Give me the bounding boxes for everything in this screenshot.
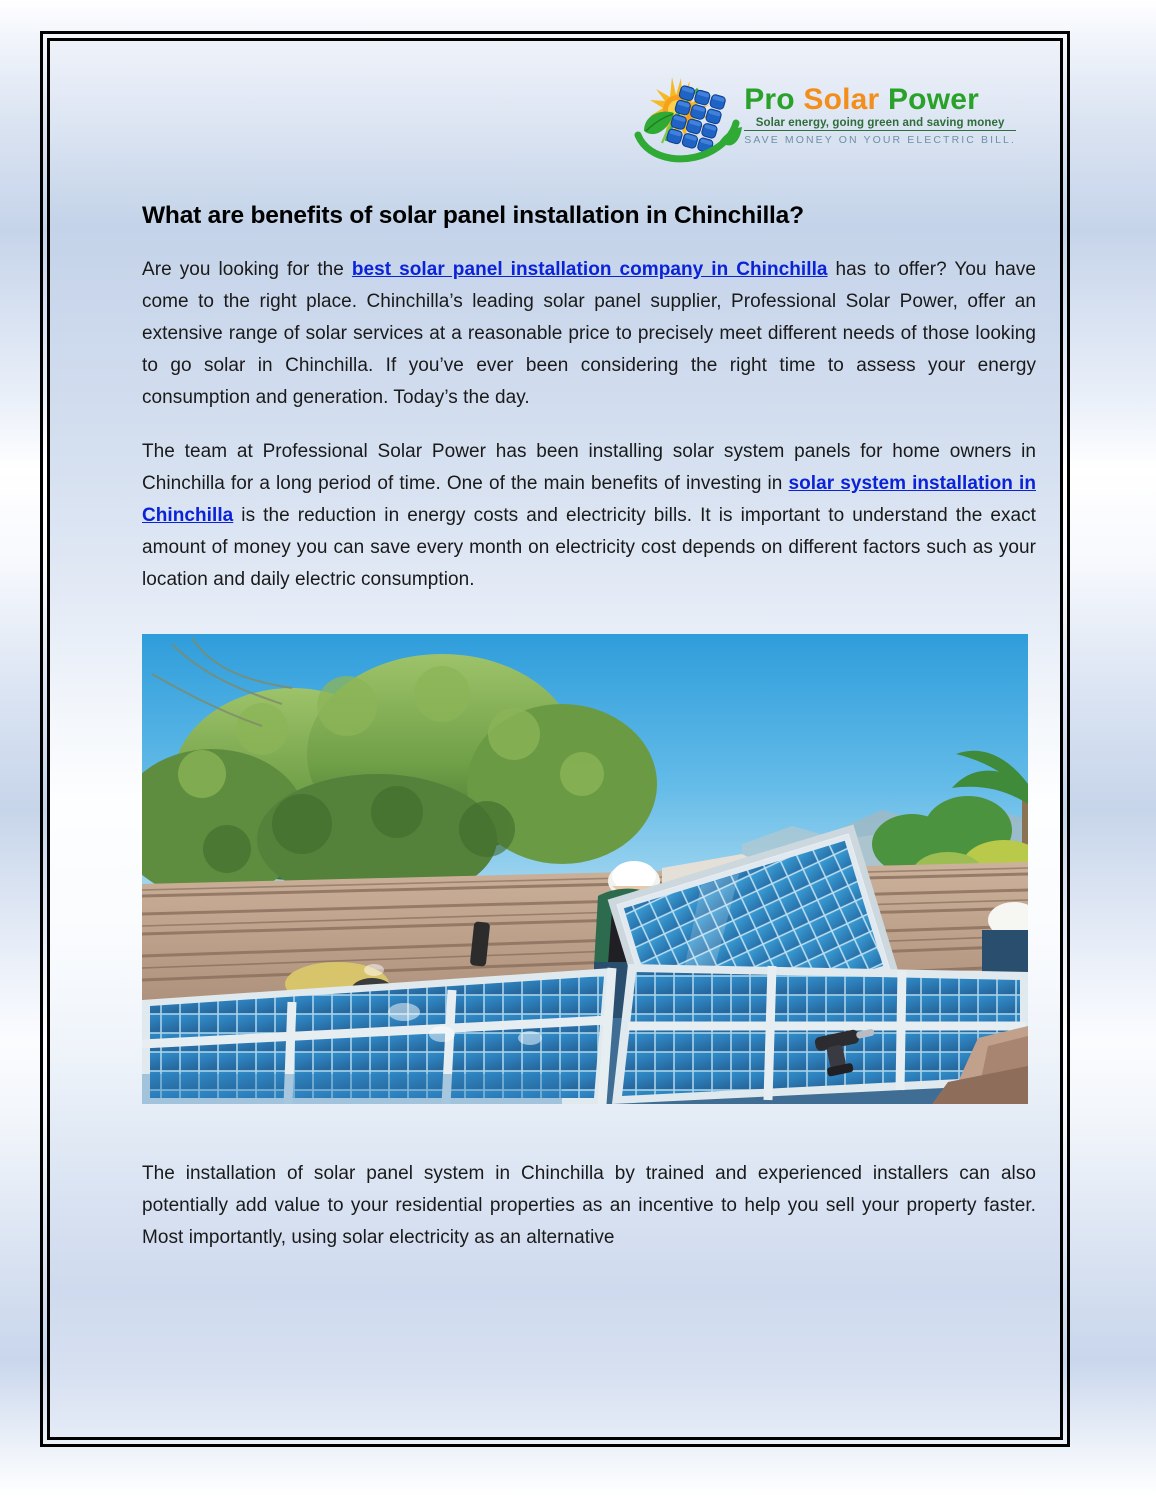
logo-word-pro: Pro — [744, 83, 795, 116]
paragraph-1-text-before: Are you looking for the — [142, 259, 352, 280]
logo-word-power: Power — [888, 83, 979, 116]
document-body: What are benefits of solar panel install… — [142, 201, 1036, 1276]
logo-word-solar: Solar — [803, 83, 879, 116]
paragraph-3: The installation of solar panel system i… — [142, 1158, 1036, 1254]
link-best-solar-panel-installation-company[interactable]: best solar panel installation company in… — [352, 259, 828, 280]
paragraph-2-text-after: is the reduction in energy costs and ele… — [142, 505, 1036, 590]
page-frame-inner: Pro Solar Power Solar energy, going gree… — [47, 38, 1063, 1440]
logo-text-block: Pro Solar Power Solar energy, going gree… — [744, 84, 1016, 147]
document-header: Pro Solar Power Solar energy, going gree… — [50, 41, 1060, 181]
page-title: What are benefits of solar panel install… — [142, 201, 1036, 232]
paragraph-2: The team at Professional Solar Power has… — [142, 436, 1036, 596]
brand-logo[interactable]: Pro Solar Power Solar energy, going gree… — [632, 69, 1016, 165]
paragraph-1-text-after: has to offer? You have come to the right… — [142, 259, 1036, 408]
logo-subline: SAVE MONEY ON YOUR ELECTRIC BILL. — [744, 134, 1016, 146]
logo-tagline: Solar energy, going green and saving mon… — [744, 117, 1016, 131]
page-frame-outer: Pro Solar Power Solar energy, going gree… — [40, 31, 1070, 1447]
logo-wordmark: Pro Solar Power — [744, 84, 1016, 116]
paragraph-1: Are you looking for the best solar panel… — [142, 254, 1036, 414]
solar-panel-sun-leaf-logo-icon — [632, 69, 742, 165]
solar-installation-photo — [142, 634, 1028, 1104]
